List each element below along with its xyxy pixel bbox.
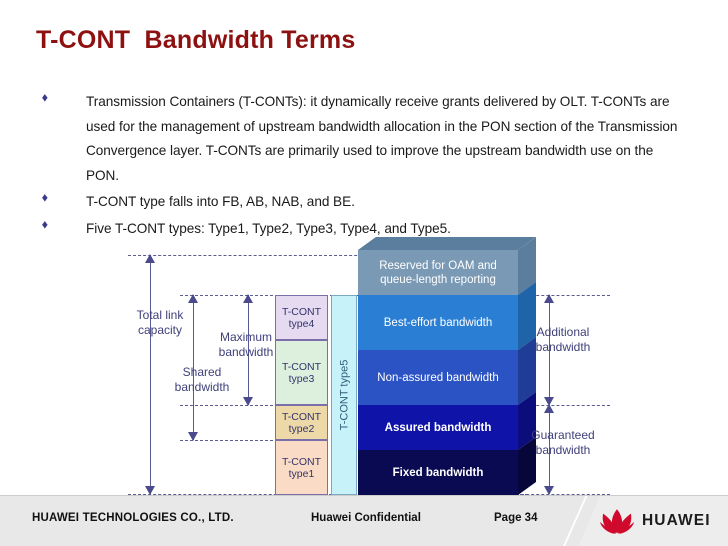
bandwidth-stack: Reserved for OAM and queue-length report… [358,250,550,495]
huawei-flower-icon [600,508,634,534]
bandwidth-diagram: Total link capacity Maximum bandwidth Sh… [120,250,620,495]
arrow-total-link-capacity [145,255,156,494]
slide: T-CONT Bandwidth Terms ♦ Transmission Co… [0,0,728,546]
tcont-type5-label: T-CONT type5 [338,360,350,431]
tcont-type5-box: T-CONT type5 [331,295,357,495]
tcont-type1-box: T-CONT type1 [275,440,328,495]
diamond-bullet-icon: ♦ [42,217,86,231]
diamond-bullet-icon: ♦ [42,190,86,204]
bullet-text-1: Transmission Containers (T-CONTs): it dy… [86,90,682,188]
label-shared-bandwidth: Shared bandwidth [158,365,246,394]
block-best-effort: Best-effort bandwidth [358,295,518,350]
block-reserved-oam: Reserved for OAM and queue-length report… [358,250,518,295]
bullet-list: ♦ Transmission Containers (T-CONTs): it … [42,90,682,243]
huawei-wordmark: HUAWEI [642,512,711,530]
footer-confidential: Huawei Confidential [311,512,421,524]
block-fixed: Fixed bandwidth [358,450,518,495]
label-guaranteed-bandwidth: Guaranteed bandwidth [516,428,610,457]
tcont-type-column: T-CONT type4 T-CONT type3 T-CONT type2 T… [275,295,328,495]
label-additional-bandwidth: Additional bandwidth [516,325,610,354]
huawei-logo: HUAWEI [600,508,711,534]
slide-footer: HUAWEI TECHNOLOGIES CO., LTD. Huawei Con… [0,495,728,546]
arrow-shared-top-head [188,295,199,309]
footer-company: HUAWEI TECHNOLOGIES CO., LTD. [32,512,234,524]
label-total-link-capacity: Total link capacity [120,308,200,337]
tcont-type3-box: T-CONT type3 [275,340,328,405]
block-non-assured: Non-assured bandwidth [358,350,518,405]
block-assured: Assured bandwidth [358,405,518,450]
page-title: T-CONT Bandwidth Terms [36,26,355,55]
list-item: ♦ Transmission Containers (T-CONTs): it … [42,90,682,188]
footer-page-number: Page 34 [494,512,537,524]
tcont-type4-box: T-CONT type4 [275,295,328,340]
list-item: ♦ T-CONT type falls into FB, AB, NAB, an… [42,190,682,215]
diamond-bullet-icon: ♦ [42,90,86,104]
bullet-text-2: T-CONT type falls into FB, AB, NAB, and … [86,190,682,215]
block-top-face [358,237,536,250]
tcont-type2-box: T-CONT type2 [275,405,328,440]
list-item: ♦ Five T-CONT types: Type1, Type2, Type3… [42,217,682,242]
